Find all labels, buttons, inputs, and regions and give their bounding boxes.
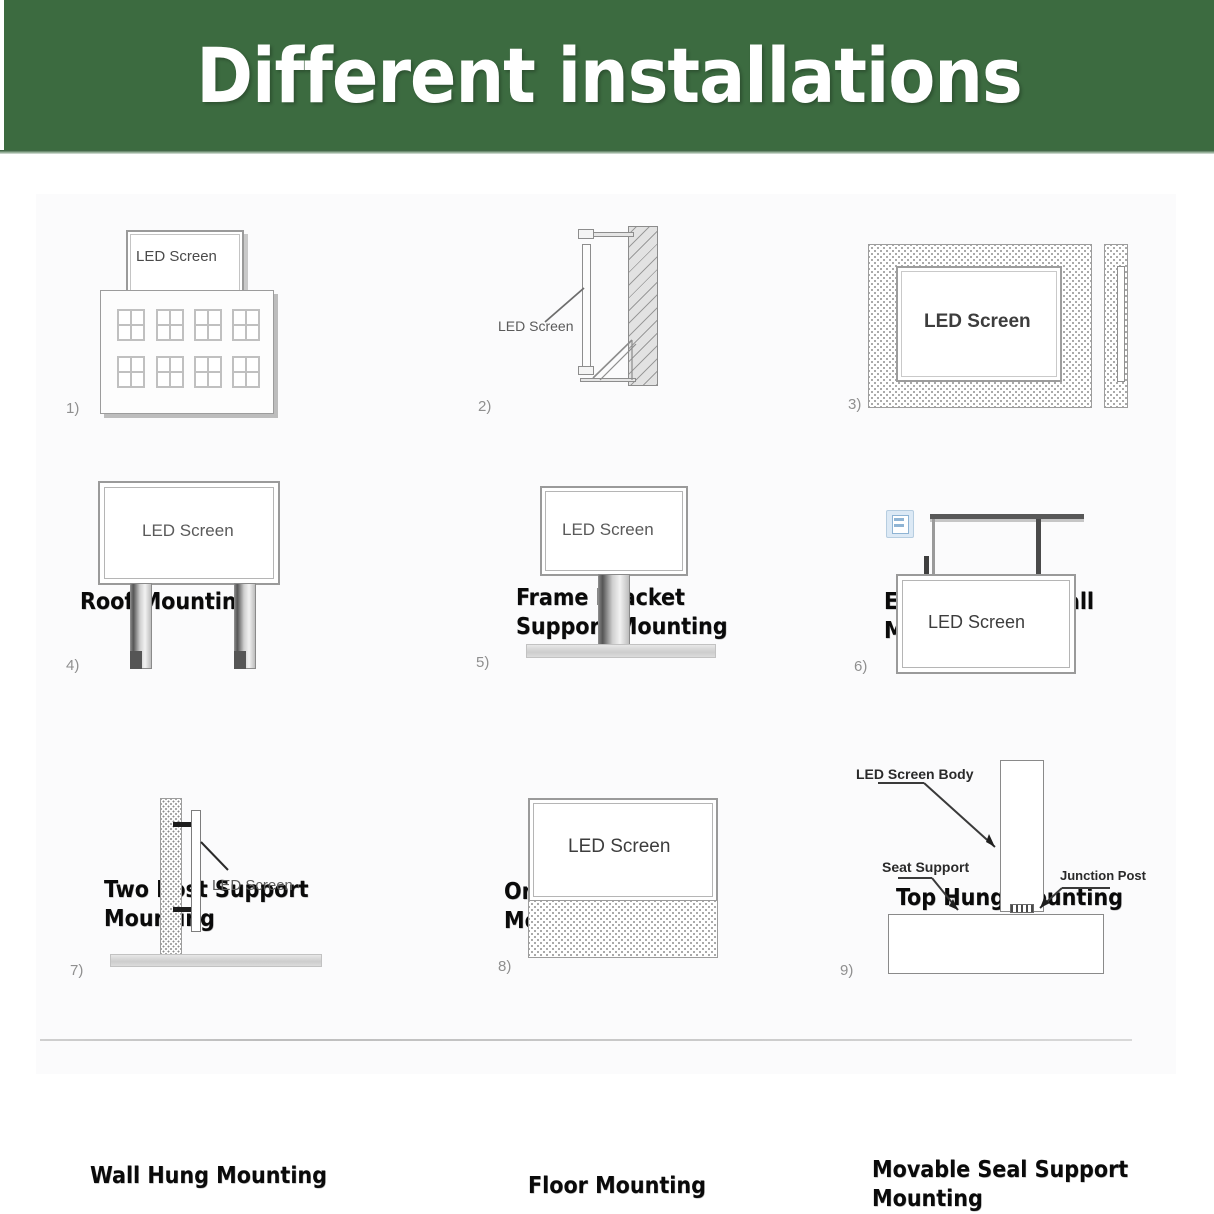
- figure-number-7: 7): [70, 962, 83, 979]
- two-post-screen-label: LED Screen: [142, 521, 234, 541]
- page-title: Different installations: [4, 0, 1214, 150]
- annotation-junction-post: Junction Post: [1060, 868, 1146, 883]
- figure-number-2: 2): [478, 398, 491, 415]
- top-hung-screen-label: LED Screen: [928, 612, 1025, 633]
- content-area: LED Screen: [0, 154, 1214, 1101]
- floor-plinth-masonry: [528, 900, 718, 958]
- center-support-post: [598, 574, 630, 646]
- figure-number-3: 3): [848, 396, 861, 413]
- hanger-right: [1036, 519, 1041, 575]
- wall-hung-screen-label: LED Screen: [212, 877, 293, 894]
- figure-number-4: 4): [66, 657, 79, 674]
- figure-one-post-support-mounting: LED Screen 5): [460, 472, 800, 742]
- caption-wall-hung-mounting: Wall Hung Mounting: [90, 1162, 327, 1191]
- hanger-left: [932, 519, 935, 575]
- figure-number-5: 5): [476, 654, 489, 671]
- wall-hung-leader-line: [60, 774, 420, 1024]
- figure-roof-mounting: LED Screen: [60, 204, 400, 464]
- screen-side-profile: [1117, 266, 1125, 382]
- broken-image-placeholder-icon: [886, 510, 914, 538]
- bracket-brace-lines: [460, 200, 800, 470]
- annotation-seat-support: Seat Support: [882, 859, 969, 875]
- figure-movable-seal-support-mounting: LED Screen Body Seat Support Junction Po…: [840, 754, 1210, 1004]
- figure-number-9: 9): [840, 962, 853, 979]
- annotation-led-screen-body: LED Screen Body: [856, 766, 973, 782]
- ceiling-beam-shadow: [930, 519, 1084, 522]
- figure-frame-bracket-support-mounting: LED Screen 2): [460, 200, 800, 470]
- figure-number-6: 6): [854, 658, 867, 675]
- roof-sign-screen-label: LED Screen: [136, 248, 217, 265]
- figure-two-post-support-mounting: LED Screen 4): [60, 469, 400, 739]
- annotation-leader-lines: [840, 754, 1210, 1004]
- floor-slab: [110, 954, 322, 967]
- caption-movable-seal-support-mounting: Movable Seal Support Mounting: [872, 1156, 1128, 1214]
- floor-screen-label: LED Screen: [568, 836, 670, 858]
- caption-floor-mounting: Floor Mounting: [528, 1172, 706, 1201]
- figure-embedded-in-wall-mounting: LED Screen 3): [840, 200, 1190, 470]
- frame-bracket-screen-label: LED Screen: [498, 318, 573, 334]
- post-base-left: [130, 651, 142, 669]
- header-band: Different installations: [4, 0, 1214, 150]
- figure-number-1: 1): [66, 400, 79, 417]
- one-post-screen-label: LED Screen: [562, 520, 654, 540]
- figure-floor-mounting: LED Screen 8): [460, 774, 820, 1024]
- figure-number-8: 8): [498, 958, 511, 975]
- hanger-stub: [924, 556, 929, 576]
- bottom-divider-rule: [40, 1039, 1132, 1041]
- ground-slab: [526, 644, 716, 658]
- post-base-right: [234, 651, 246, 669]
- figure-top-hung-mounting: LED Screen 6): [840, 472, 1190, 742]
- embedded-screen-label: LED Screen: [924, 311, 1031, 333]
- figure-wall-hung-mounting: LED Screen 7): [60, 774, 420, 1024]
